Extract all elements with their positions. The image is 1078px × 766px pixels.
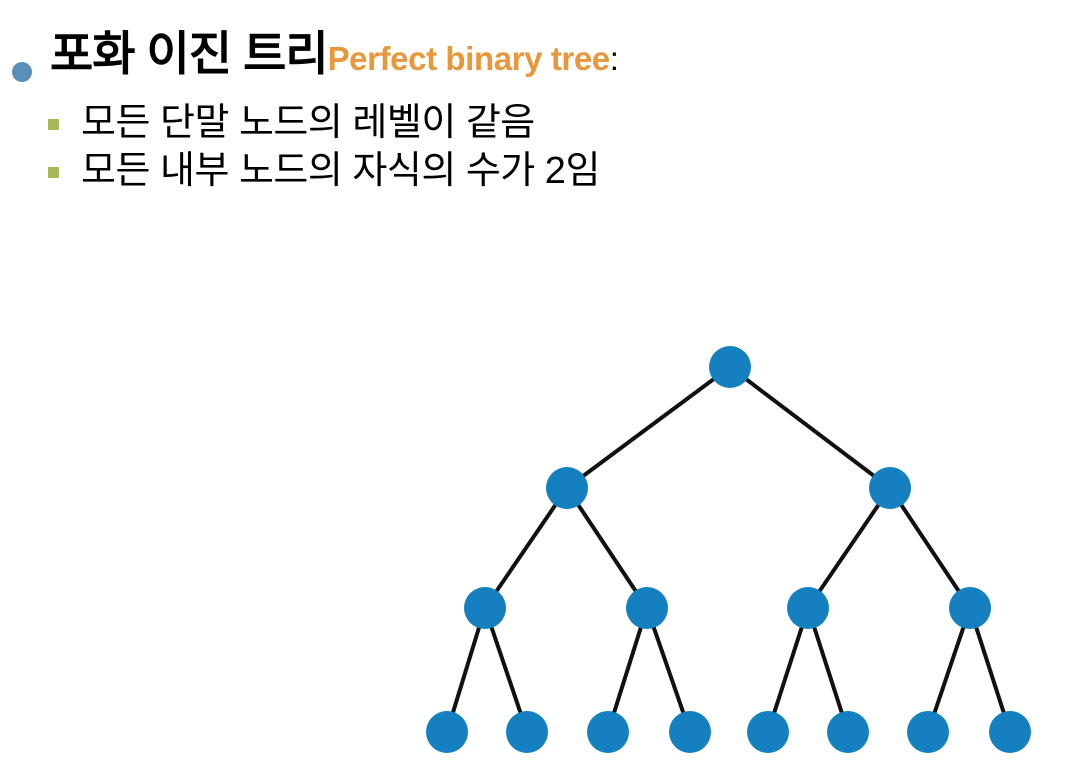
tree-node (827, 711, 869, 753)
tree-edge (485, 488, 567, 608)
tree-node (669, 711, 711, 753)
sub-bullet-list: 모든 단말 노드의 레벨이 같음 모든 내부 노드의 자식의 수가 2임 (48, 100, 1048, 196)
perfect-binary-tree-diagram (400, 330, 1060, 760)
tree-svg (400, 330, 1060, 760)
list-item: 모든 내부 노드의 자식의 수가 2임 (48, 148, 1048, 196)
tree-node (546, 467, 588, 509)
tree-node (907, 711, 949, 753)
list-item: 모든 단말 노드의 레벨이 같음 (48, 100, 1048, 148)
tree-node (587, 711, 629, 753)
slide-canvas: 포화 이진 트리Perfect binary tree: 모든 단말 노드의 레… (0, 0, 1078, 766)
tree-node (464, 587, 506, 629)
page-title: 포화 이진 트리Perfect binary tree: (50, 30, 619, 77)
tree-node (787, 587, 829, 629)
tree-node (949, 587, 991, 629)
filled-square-bullet-icon (48, 167, 59, 178)
filled-circle-bullet-icon (12, 62, 32, 82)
tree-node (709, 346, 751, 388)
tree-edge-group (447, 367, 1010, 732)
filled-square-bullet-icon (48, 119, 59, 130)
tree-node (506, 711, 548, 753)
tree-edge (808, 488, 890, 608)
tree-edge (730, 367, 890, 488)
tree-node (989, 711, 1031, 753)
title-english: Perfect binary tree (328, 40, 610, 77)
tree-node (626, 587, 668, 629)
tree-edge (567, 488, 647, 608)
title-korean: 포화 이진 트리 (50, 27, 328, 80)
title-colon: : (610, 40, 619, 77)
tree-edge (890, 488, 970, 608)
tree-node (426, 711, 468, 753)
title-bullet-row: 포화 이진 트리Perfect binary tree: (0, 30, 1078, 82)
tree-edge (567, 367, 730, 488)
tree-node (869, 467, 911, 509)
tree-node (747, 711, 789, 753)
sub-bullet-label: 모든 내부 노드의 자식의 수가 2임 (81, 152, 600, 192)
sub-bullet-label: 모든 단말 노드의 레벨이 같음 (81, 104, 535, 144)
